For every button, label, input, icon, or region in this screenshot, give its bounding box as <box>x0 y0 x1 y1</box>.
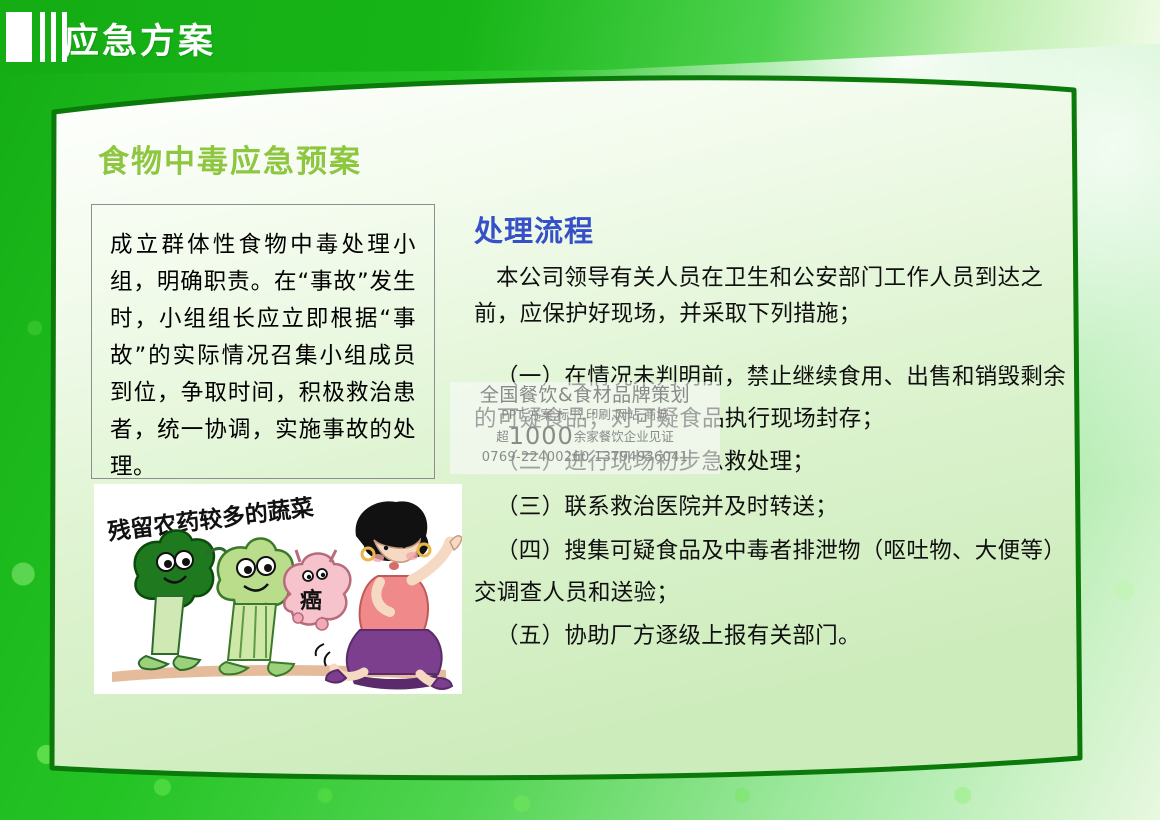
step-item: （一）在情况未判明前，禁止继续食用、出售和销毁剩余的可疑食品；对可疑食品执行现场… <box>474 356 1074 440</box>
step-item: （二）进行现场初步急救处理； <box>474 440 1074 485</box>
top-banner: 应急方案 <box>0 0 1160 78</box>
section-heading: 处理流程 <box>474 208 1074 250</box>
banner-title: 应急方案 <box>64 13 216 64</box>
process-column: 处理流程 本公司领导有关人员在卫生和公安部门工作人员到达之前，应保护好现场，并采… <box>474 208 1074 659</box>
left-box-paragraph: 成立群体性食物中毒处理小组，明确职责。在“事故”发生时，小组组长应立即根据“事故… <box>110 227 416 486</box>
white-square-icon <box>6 12 32 62</box>
content-panel: 食物中毒应急预案 成立群体性食物中毒处理小组，明确职责。在“事故”发生时，小组组… <box>36 68 1112 788</box>
page-title: 食物中毒应急预案 <box>98 136 362 181</box>
step-item: （三）联系救治医院并及时转送； <box>474 485 1074 530</box>
tumor-label: 癌 <box>300 588 322 614</box>
step-item: （四）搜集可疑食品及中毒者排泄物（呕吐物、大便等）交调查人员和送验； <box>474 530 1074 614</box>
left-text-box: 成立群体性食物中毒处理小组，明确职责。在“事故”发生时，小组组长应立即根据“事故… <box>91 204 435 479</box>
illustration-image: 残留农药较多的蔬菜 <box>94 484 462 694</box>
steps-list: （一）在情况未判明前，禁止继续食用、出售和销毁剩余的可疑食品；对可疑食品执行现场… <box>474 356 1074 659</box>
panel-inner: 食物中毒应急预案 成立群体性食物中毒处理小组，明确职责。在“事故”发生时，小组组… <box>36 68 1112 788</box>
slide-root: 应急方案 食物中毒应急预案 成立群体性食物中毒处理小组，明确职责。在“事故”发生… <box>0 0 1160 820</box>
three-bars-icon <box>40 12 67 62</box>
intro-paragraph: 本公司领导有关人员在卫生和公安部门工作人员到达之前，应保护好现场，并采取下列措施… <box>474 260 1074 332</box>
cartoon-vegetables-svg: 残留农药较多的蔬菜 <box>94 484 462 694</box>
step-item: （五）协助厂方逐级上报有关部门。 <box>474 614 1074 659</box>
